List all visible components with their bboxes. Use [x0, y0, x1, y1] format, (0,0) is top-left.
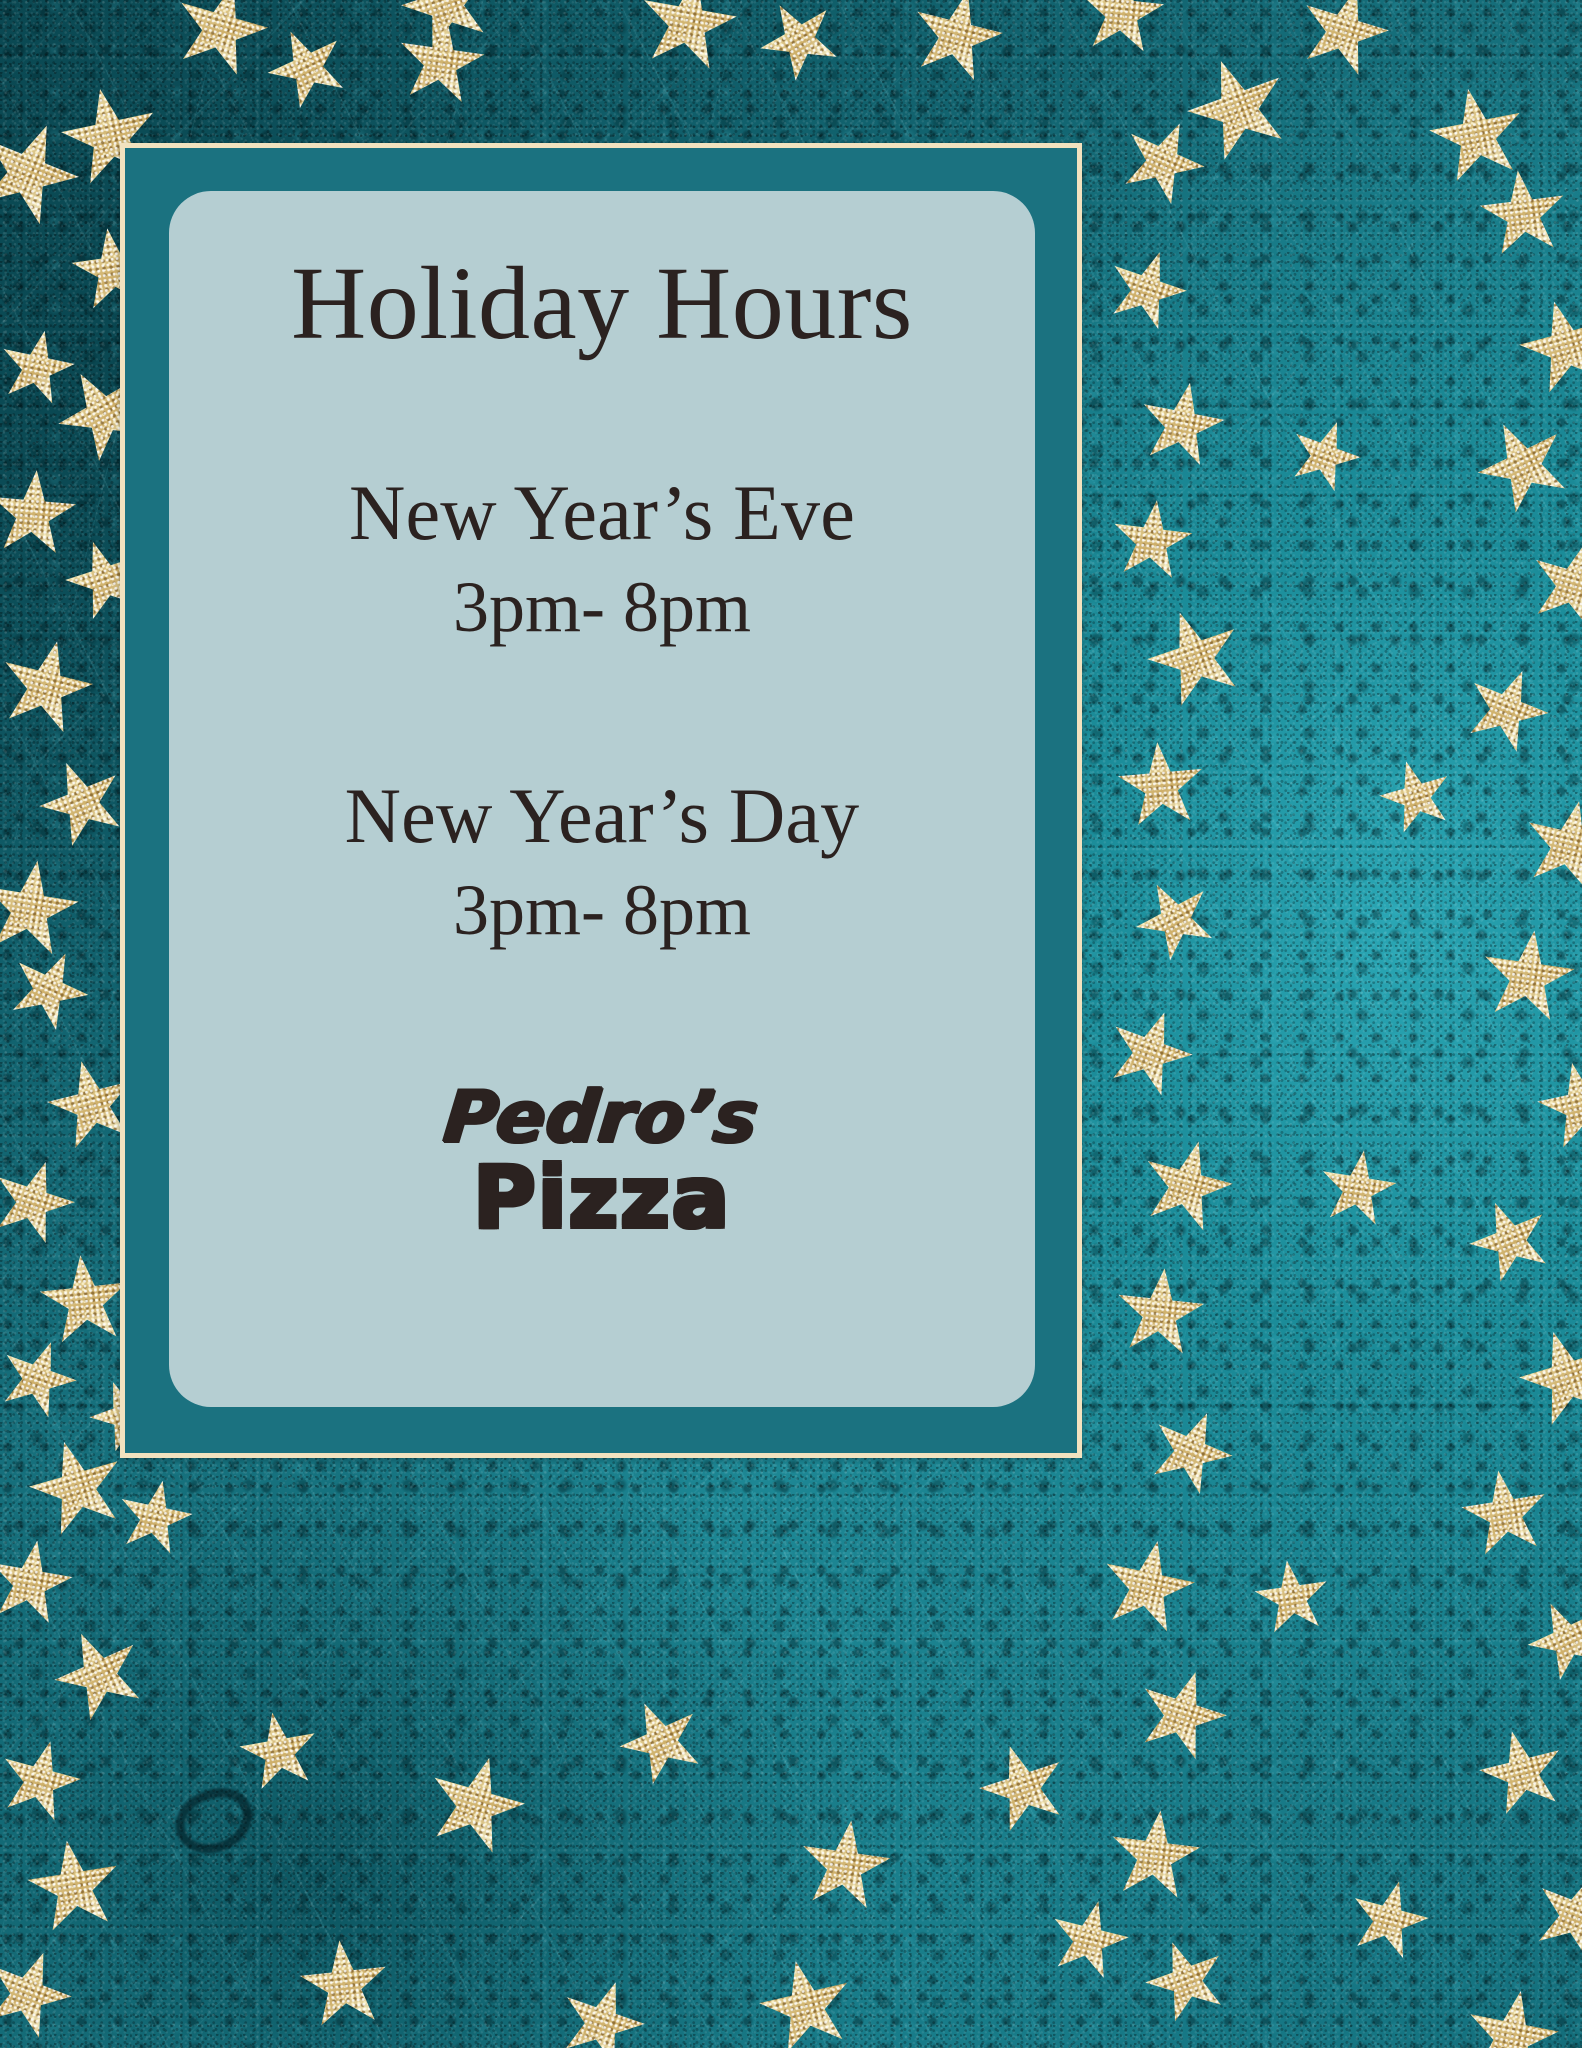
- brand-logo: Pedro’s Pizza: [169, 1081, 1035, 1241]
- holiday-time: 3pm- 8pm: [349, 567, 855, 648]
- holiday-name: New Year’s Eve: [349, 471, 855, 555]
- poster-frame-teal-mat: Holiday Hours New Year’s Eve 3pm- 8pm Ne…: [125, 148, 1077, 1453]
- page-title: Holiday Hours: [291, 249, 913, 359]
- holiday-name: New Year’s Day: [345, 774, 860, 858]
- holiday-time: 3pm- 8pm: [345, 870, 860, 951]
- holiday-hours-poster: Holiday Hours New Year’s Eve 3pm- 8pm Ne…: [0, 0, 1582, 2048]
- poster-frame-cream-border: Holiday Hours New Year’s Eve 3pm- 8pm Ne…: [120, 143, 1082, 1458]
- holiday-entry-new-years-eve: New Year’s Eve 3pm- 8pm: [349, 471, 855, 648]
- brand-logo-line-1: Pedro’s: [442, 1081, 763, 1153]
- holiday-entry-new-years-day: New Year’s Day 3pm- 8pm: [345, 774, 860, 951]
- brand-logo-line-2: Pizza: [169, 1155, 1035, 1241]
- poster-card: Holiday Hours New Year’s Eve 3pm- 8pm Ne…: [169, 191, 1035, 1407]
